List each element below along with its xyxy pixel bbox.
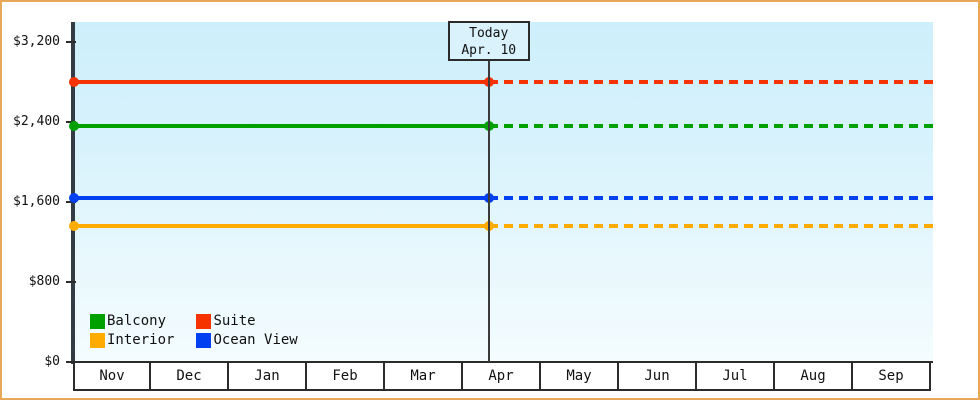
y-tick-mark [66, 41, 76, 43]
y-tick-label: $800 [29, 274, 60, 289]
legend-swatch-icon [90, 333, 105, 348]
x-axis-month-cell: Mar [385, 363, 463, 391]
x-axis-month-labels: NovDecJanFebMarAprMayJunJulAugSep [73, 363, 931, 391]
x-axis-month-cell: Jan [229, 363, 307, 391]
x-axis-month-cell: Jul [697, 363, 775, 391]
legend-item[interactable]: Suite [196, 313, 297, 329]
x-axis-month-cell: May [541, 363, 619, 391]
x-axis-month-cell: Apr [463, 363, 541, 391]
legend-swatch-icon [90, 314, 105, 329]
chart-legend: BalconySuiteInteriorOcean View [90, 313, 298, 348]
today-vertical-line [488, 60, 490, 362]
legend-item[interactable]: Ocean View [196, 332, 297, 348]
series-point-marker [69, 221, 79, 231]
y-tick-mark [66, 281, 76, 283]
series-line-forecast-dashed [489, 196, 933, 200]
x-axis-month-cell: Aug [775, 363, 853, 391]
series-line-solid [74, 124, 489, 128]
y-tick-label: $2,400 [13, 114, 60, 129]
legend-item-label: Suite [213, 313, 255, 329]
today-annotation-line1: Today [450, 25, 528, 42]
series-line-forecast-dashed [489, 124, 933, 128]
series-line-forecast-dashed [489, 80, 933, 84]
today-annotation-line2: Apr. 10 [450, 42, 528, 59]
legend-item-label: Ocean View [213, 332, 297, 348]
legend-item[interactable]: Interior [90, 332, 174, 348]
legend-item[interactable]: Balcony [90, 313, 174, 329]
legend-item-label: Balcony [107, 313, 166, 329]
series-point-marker [69, 121, 79, 131]
x-axis-month-cell: Jun [619, 363, 697, 391]
series-point-marker [69, 193, 79, 203]
series-line-solid [74, 80, 489, 84]
y-tick-label: $0 [44, 354, 60, 369]
y-tick-label: $3,200 [13, 34, 60, 49]
legend-swatch-icon [196, 314, 211, 329]
series-line-solid [74, 196, 489, 200]
x-axis-month-cell: Feb [307, 363, 385, 391]
legend-item-label: Interior [107, 332, 174, 348]
legend-swatch-icon [196, 333, 211, 348]
today-annotation-box: Today Apr. 10 [448, 21, 530, 61]
series-line-forecast-dashed [489, 224, 933, 228]
cruise-price-chart: $0$800$1,600$2,400$3,200 Today Apr. 10 B… [0, 0, 980, 400]
series-line-solid [74, 224, 489, 228]
x-axis-month-cell: Dec [151, 363, 229, 391]
series-point-marker [69, 77, 79, 87]
x-axis-month-cell: Sep [853, 363, 931, 391]
y-tick-label: $1,600 [13, 194, 60, 209]
plot-area [74, 22, 933, 362]
x-axis-month-cell: Nov [73, 363, 151, 391]
